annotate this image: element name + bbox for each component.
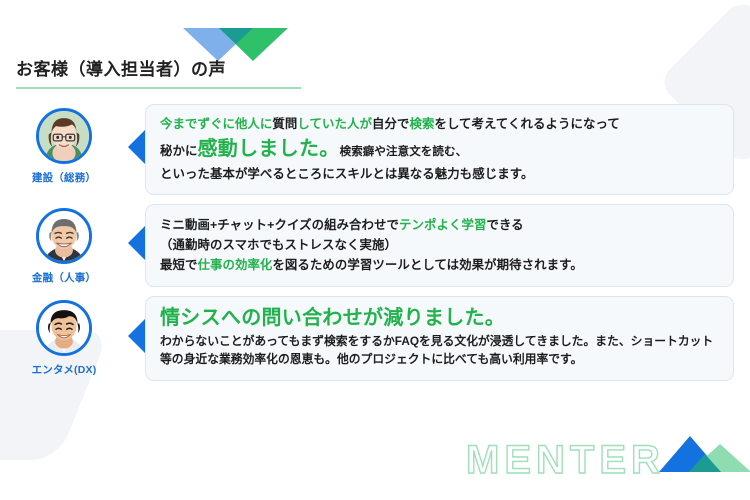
testimonial-bubble: 情シスへの問い合わせが減りました。 わからないことがあってもまず検索をするかFA… xyxy=(145,296,734,380)
brand-name: MENTER xyxy=(466,440,665,480)
page-title-block: お客様（導入担当者）の声 xyxy=(16,60,301,89)
text-segment: 秘かに xyxy=(160,144,197,158)
testimonial-row: 金融（人事） ミニ動画+チャット+クイズの組み合わせでテンポよく学習できる （通… xyxy=(0,204,750,287)
avatar-man-suit xyxy=(36,208,92,264)
testimonial-list: 建設（総務） 今までずぐに他人に質問していた人が自分で検索をして考えてくれるよう… xyxy=(0,104,750,390)
person-block: 金融（人事） xyxy=(0,204,128,285)
page-title: お客様（導入担当者）の声 xyxy=(16,60,301,87)
left-triangle-arrow-icon xyxy=(128,319,146,353)
text-segment: 仕事の効率化 xyxy=(197,258,272,272)
left-triangle-arrow-icon xyxy=(128,226,146,260)
inverted-mountain-logo-icon xyxy=(183,28,288,62)
testimonial-headline: 情シスへの問い合わせが減りました。 xyxy=(160,305,719,332)
text-segment: 自分で xyxy=(372,117,409,131)
person-label: 金融（人事） xyxy=(32,270,96,285)
testimonial-body: わからないことがあってもまず検索をするかFAQを見る文化が浸透してきました。また… xyxy=(160,333,719,368)
person-block: エンタメ(DX) xyxy=(0,296,128,377)
text-segment: を図るための学習ツールとしては効果が期待されます。 xyxy=(272,258,582,272)
avatar-woman-glasses xyxy=(36,108,92,164)
testimonial-line: ミニ動画+チャット+クイズの組み合わせでテンポよく学習できる xyxy=(160,215,719,235)
avatar-man-young xyxy=(36,300,92,356)
slide-root: お客様（導入担当者）の声 xyxy=(0,0,750,500)
testimonial-line: 最短で仕事の効率化を図るための学習ツールとしては効果が期待されます。 xyxy=(160,255,719,275)
testimonial-line: （通勤時のスマホでもストレスなく実施） xyxy=(160,235,719,255)
testimonial-row: 建設（総務） 今までずぐに他人に質問していた人が自分で検索をして考えてくれるよう… xyxy=(0,104,750,195)
text-segment: 検索 xyxy=(409,117,434,131)
text-segment: 最短で xyxy=(160,258,197,272)
testimonial-bubble: ミニ動画+チャット+クイズの組み合わせでテンポよく学習できる （通勤時のスマホで… xyxy=(145,204,734,287)
text-segment: ミニ動画+チャット+クイズの組み合わせで xyxy=(160,218,399,232)
person-label: エンタメ(DX) xyxy=(32,362,97,377)
text-segment-emphasis: 感動しました。 xyxy=(197,138,339,160)
text-segment: といった基本が学べるところにスキルとは異なる魅力も感じます。 xyxy=(160,167,533,181)
brand-logo: MENTER xyxy=(466,432,750,480)
title-underline xyxy=(16,87,301,89)
left-triangle-arrow-icon xyxy=(128,130,146,164)
text-segment: 検索癖や注意文を読む、 xyxy=(340,146,468,158)
text-segment: 質問 xyxy=(272,117,297,131)
testimonial-line: といった基本が学べるところにスキルとは異なる魅力も感じます。 xyxy=(160,164,719,184)
person-block: 建設（総務） xyxy=(0,104,128,185)
testimonial-line: 秘かに感動しました。検索癖や注意文を読む、 xyxy=(160,134,719,164)
text-segment: できる xyxy=(486,218,523,232)
testimonial-bubble: 今までずぐに他人に質問していた人が自分で検索をして考えてくれるようになって 秘か… xyxy=(145,104,734,195)
testimonial-row: エンタメ(DX) 情シスへの問い合わせが減りました。 わからないことがあってもま… xyxy=(0,296,750,380)
person-label: 建設（総務） xyxy=(32,170,96,185)
testimonial-line: 今までずぐに他人に質問していた人が自分で検索をして考えてくれるようになって xyxy=(160,114,719,134)
text-segment: 今までずぐに他人に xyxy=(160,117,272,131)
text-segment: （通勤時のスマホでもストレスなく実施） xyxy=(160,238,397,252)
text-segment: していた人が xyxy=(297,117,372,131)
text-segment: テンポよく学習 xyxy=(399,218,486,232)
text-segment: をして考えてくれるようになって xyxy=(434,117,619,131)
mountain-logo-icon xyxy=(659,432,750,477)
